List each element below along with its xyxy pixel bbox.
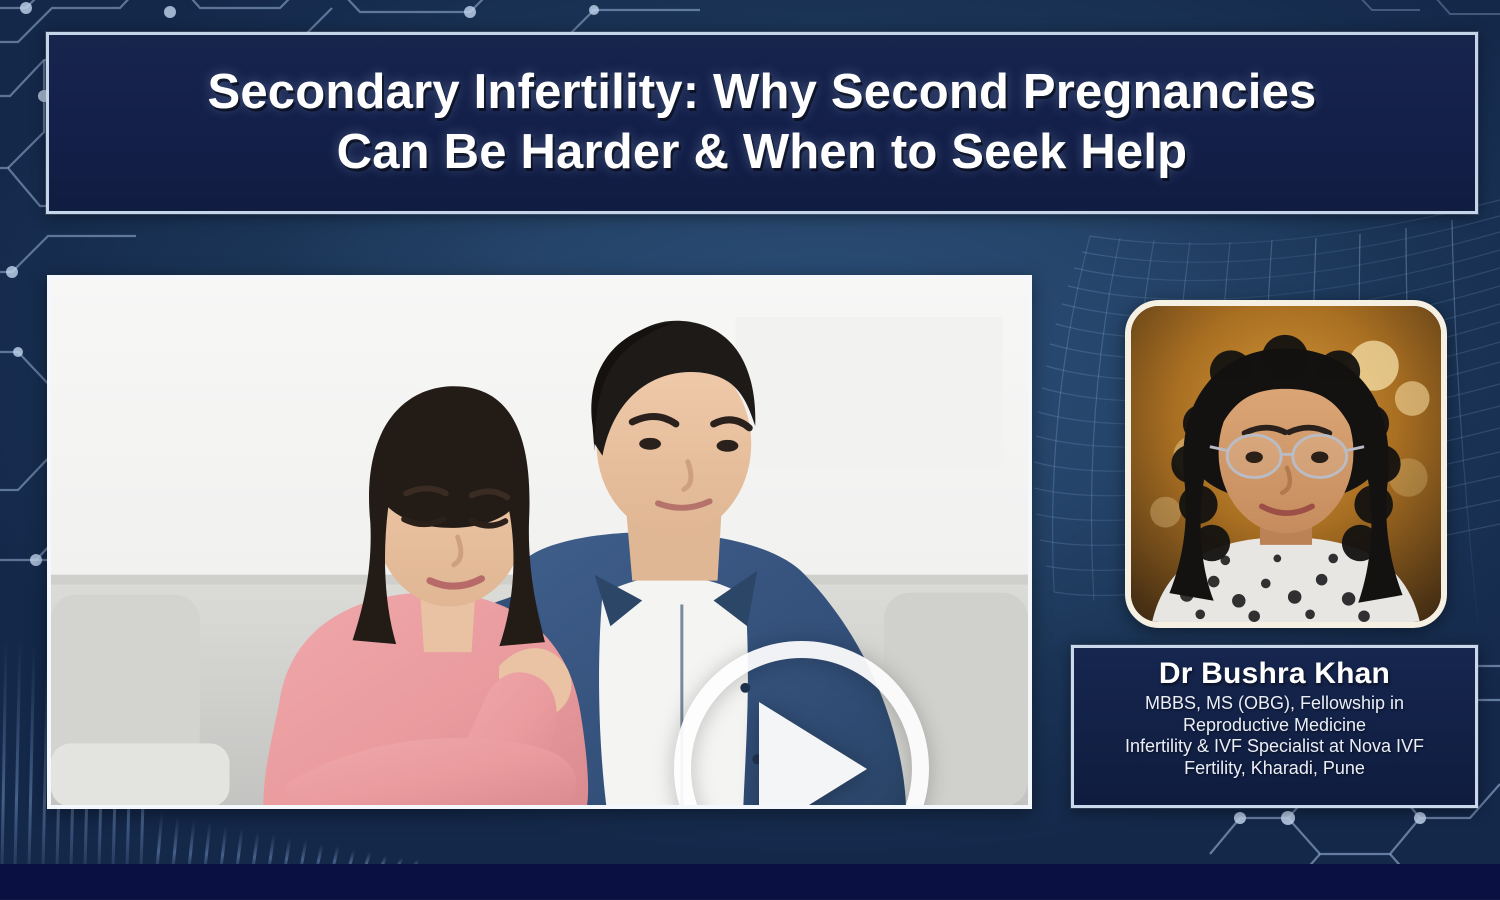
circuit-pattern-top-right <box>1340 0 1500 14</box>
doctor-credential-line-1: MBBS, MS (OBG), Fellowship in <box>1084 693 1465 715</box>
doctor-name: Dr Bushra Khan <box>1084 657 1465 690</box>
doctor-credential-line-4: Fertility, Kharadi, Pune <box>1084 758 1465 780</box>
doctor-avatar <box>1125 300 1447 628</box>
doctor-info-panel: Dr Bushra Khan MBBS, MS (OBG), Fellowshi… <box>1071 645 1478 808</box>
doctor-portrait-image <box>1131 306 1441 622</box>
video-player[interactable] <box>47 275 1032 809</box>
doctor-credential-line-2: Reproductive Medicine <box>1084 715 1465 737</box>
title-line-2: Can Be Harder & When to Seek Help <box>78 123 1447 183</box>
page-title: Secondary Infertility: Why Second Pregna… <box>78 63 1447 183</box>
doctor-credential-line-3: Infertility & IVF Specialist at Nova IVF <box>1084 736 1465 758</box>
title-line-1: Secondary Infertility: Why Second Pregna… <box>207 65 1316 119</box>
bottom-band <box>0 864 1500 900</box>
title-banner: Secondary Infertility: Why Second Pregna… <box>46 32 1478 214</box>
video-thumbnail-card: Secondary Infertility: Why Second Pregna… <box>0 0 1500 900</box>
play-triangle-icon <box>759 702 867 810</box>
